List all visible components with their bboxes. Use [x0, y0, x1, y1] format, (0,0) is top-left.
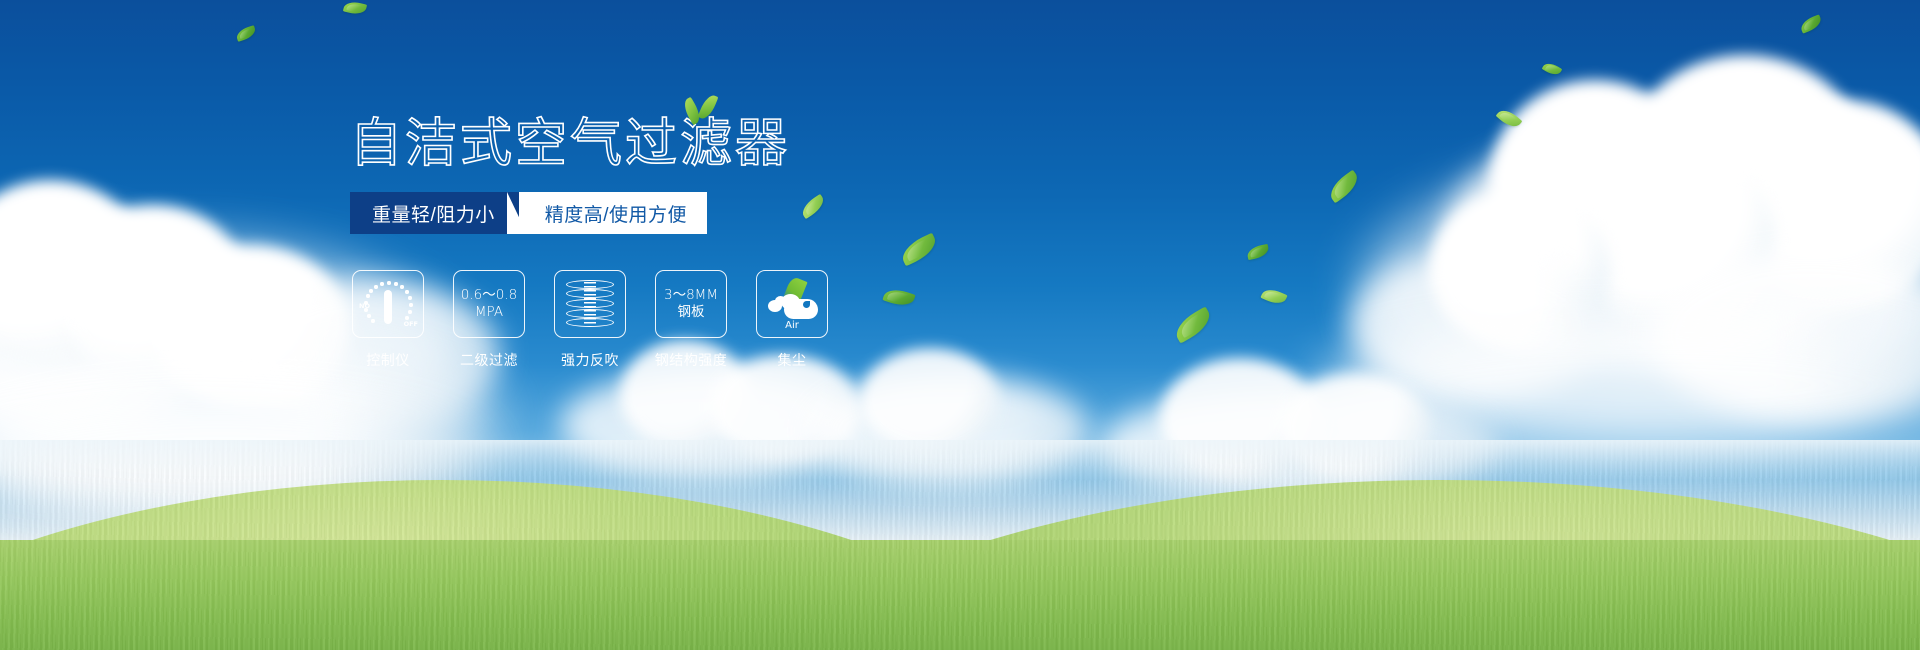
feature-icon-box	[554, 270, 626, 338]
gauge-label-no: NO	[359, 302, 370, 310]
feature-item-two-stage-filter[interactable]: 0.6～0.8 MPA 二级过滤	[453, 270, 525, 370]
leaf-sprig-decoration	[680, 92, 726, 132]
feature-label: 控制仪	[366, 350, 410, 370]
feature-icon-box: NO OFF	[352, 270, 424, 338]
gauge-needle	[384, 290, 392, 324]
feature-label: 强力反吹	[561, 350, 619, 370]
feature-item-dust-collection[interactable]: Air 集尘	[756, 270, 828, 370]
steel-thickness-text-icon: 3～8MM	[664, 287, 718, 304]
feature-label: 二级过滤	[460, 350, 518, 370]
tab-precision-convenience[interactable]: 精度高/使用方便	[519, 192, 707, 234]
feature-icon-box: 0.6～0.8 MPA	[453, 270, 525, 338]
air-label: Air	[765, 320, 819, 331]
backblow-coil-icon	[566, 279, 614, 329]
hero-banner: 自洁式空气过滤器 重量轻/阻力小 精度高/使用方便	[0, 0, 1920, 650]
feature-item-steel-strength[interactable]: 3～8MM 钢板 钢结构强度	[655, 270, 727, 370]
gauge-label-off: OFF	[404, 320, 418, 328]
feature-tabs: 重量轻/阻力小 精度高/使用方便	[350, 192, 707, 234]
feature-item-controller[interactable]: NO OFF 控制仪	[352, 270, 424, 370]
gauge-icon: NO OFF	[360, 278, 416, 330]
feature-icon-box: 3～8MM 钢板	[655, 270, 727, 338]
pressure-text-icon: 0.6～0.8	[461, 287, 517, 304]
steel-plate-text: 钢板	[678, 304, 705, 321]
dust-collect-icon: Air	[765, 280, 819, 328]
banner-content: 自洁式空气过滤器 重量轻/阻力小 精度高/使用方便	[0, 0, 1920, 650]
feature-icon-box: Air	[756, 270, 828, 338]
feature-label: 集尘	[778, 350, 807, 370]
feature-item-backblow[interactable]: 强力反吹	[554, 270, 626, 370]
tab-weight-resistance[interactable]: 重量轻/阻力小	[350, 192, 521, 234]
tab-label: 重量轻/阻力小	[372, 200, 495, 227]
feature-list: NO OFF 控制仪 0.6～0.8 MPA 二级过滤	[352, 270, 828, 370]
feature-label: 钢结构强度	[655, 350, 728, 370]
pressure-unit-text: MPA	[475, 304, 503, 321]
tab-label: 精度高/使用方便	[545, 200, 687, 227]
